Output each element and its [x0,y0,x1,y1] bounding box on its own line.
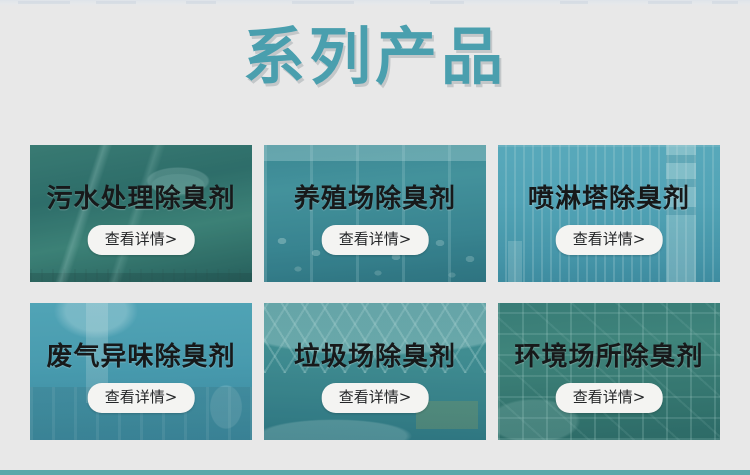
product-title: 废气异味除臭剂 [30,342,252,372]
page-title: 系列产品 [0,22,750,92]
product-title: 污水处理除臭剂 [30,184,252,214]
view-details-button[interactable]: 查看详情> [556,225,663,255]
view-details-button[interactable]: 查看详情> [88,225,195,255]
product-title: 养殖场除臭剂 [264,184,486,214]
product-card-wastewater[interactable]: 污水处理除臭剂 查看详情> [30,145,252,282]
product-card-landfill[interactable]: 垃圾场除臭剂 查看详情> [264,303,486,440]
product-title: 垃圾场除臭剂 [264,342,486,372]
view-details-button[interactable]: 查看详情> [322,383,429,413]
product-card-spray-tower[interactable]: 喷淋塔除臭剂 查看详情> [498,145,720,282]
product-title: 喷淋塔除臭剂 [498,184,720,214]
view-details-button[interactable]: 查看详情> [88,383,195,413]
product-title: 环境场所除臭剂 [498,342,720,372]
product-card-waste-gas-odor[interactable]: 废气异味除臭剂 查看详情> [30,303,252,440]
bottom-accent-rule [0,470,750,475]
product-card-environmental-site[interactable]: 环境场所除臭剂 查看详情> [498,303,720,440]
top-edge-strip [0,0,750,7]
view-details-button[interactable]: 查看详情> [322,225,429,255]
product-grid: 污水处理除臭剂 查看详情> 养殖场除臭剂 查看详情> 喷淋塔除臭剂 查看详情> … [30,145,720,440]
product-card-livestock-farm[interactable]: 养殖场除臭剂 查看详情> [264,145,486,282]
view-details-button[interactable]: 查看详情> [556,383,663,413]
